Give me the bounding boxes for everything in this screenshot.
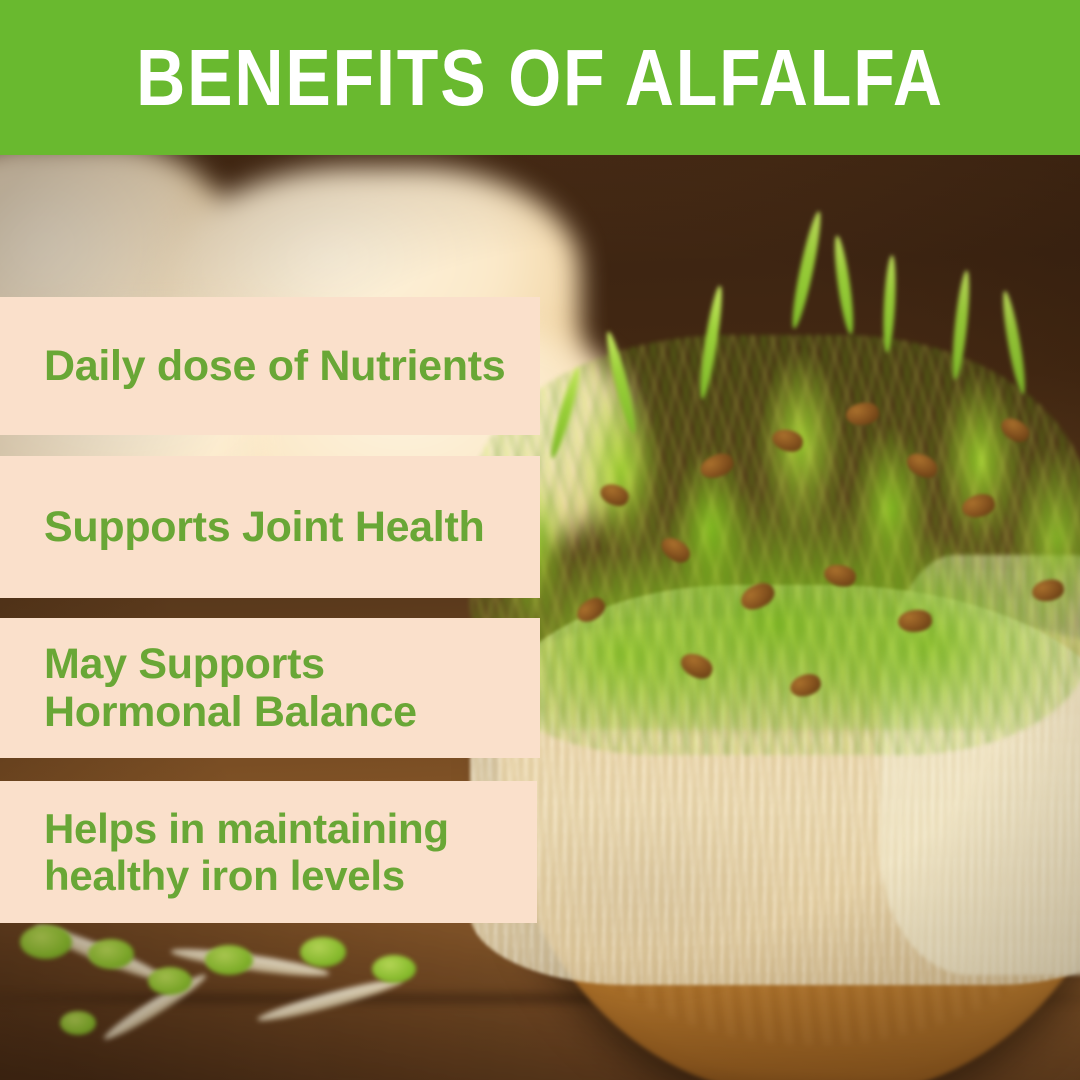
- benefit-label: Daily dose of Nutrients: [0, 342, 519, 390]
- benefit-label: Supports Joint Health: [0, 503, 498, 551]
- loose-sprout-leaf: [60, 1011, 96, 1035]
- benefit-card[interactable]: Supports Joint Health: [0, 456, 540, 598]
- loose-sprout-leaf: [148, 967, 192, 995]
- benefit-label: Helps in maintaining healthy iron levels: [0, 805, 537, 899]
- benefit-card[interactable]: Daily dose of Nutrients: [0, 297, 540, 435]
- benefit-card[interactable]: May Supports Hormonal Balance: [0, 618, 540, 758]
- infographic-canvas: BENEFITS OF ALFALFA Daily dose of Nutrie…: [0, 0, 1080, 1080]
- loose-sprout-leaf: [300, 937, 346, 967]
- page-title: BENEFITS OF ALFALFA: [136, 38, 944, 118]
- loose-sprout-leaf: [372, 955, 416, 983]
- loose-sprout-leaf: [88, 939, 134, 969]
- loose-sprout-leaf: [205, 945, 253, 975]
- benefit-label: May Supports Hormonal Balance: [0, 640, 540, 736]
- header-band: BENEFITS OF ALFALFA: [0, 0, 1080, 155]
- loose-sprout-leaf: [20, 925, 72, 959]
- sprout-canopy-detail: [470, 335, 1080, 755]
- benefit-card[interactable]: Helps in maintaining healthy iron levels: [0, 781, 537, 923]
